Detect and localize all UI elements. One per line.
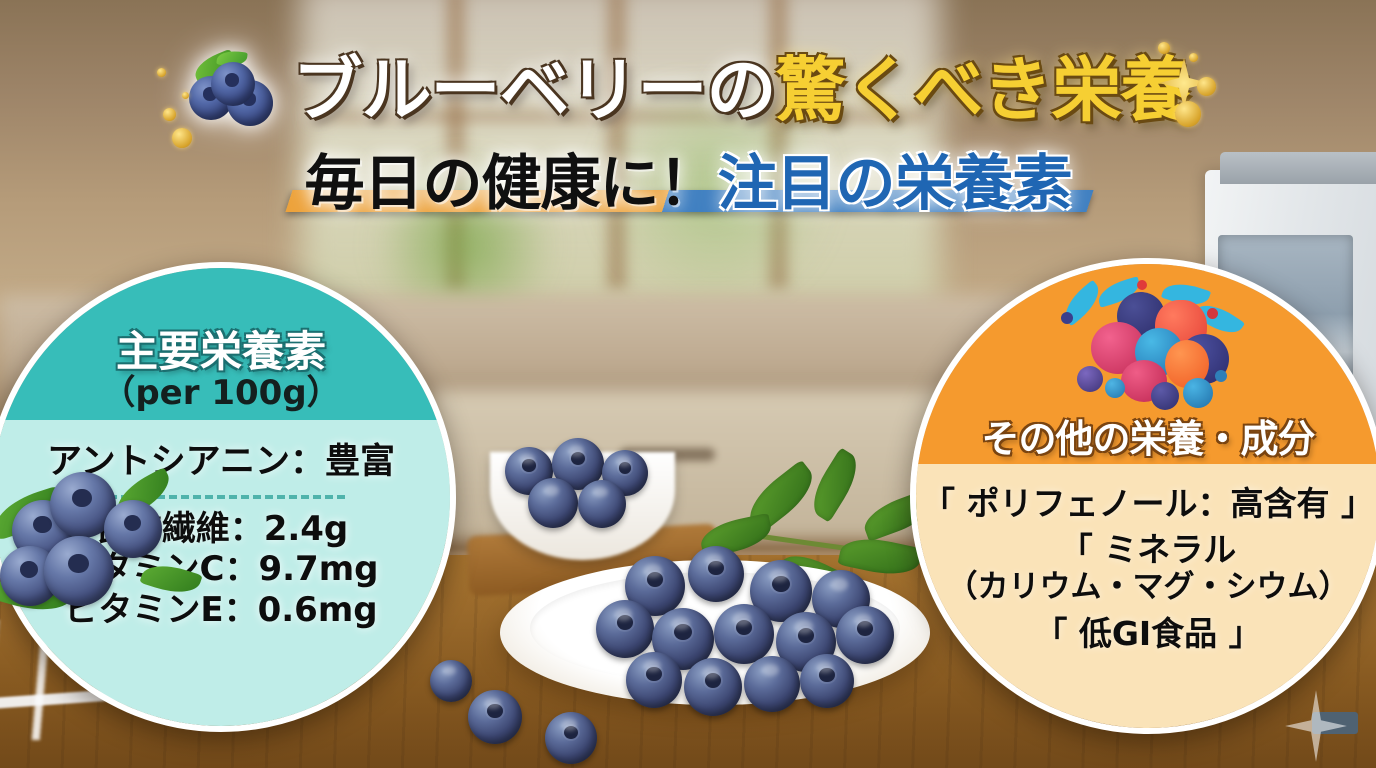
small-berry — [1183, 378, 1213, 408]
subtitle-part-black: 毎日の健康に！ — [305, 149, 718, 219]
sparkle-dot-icon — [1189, 53, 1198, 62]
small-berry — [1151, 382, 1179, 410]
plate-berry — [596, 600, 654, 658]
sparkle-dot-icon — [163, 108, 176, 121]
page-title: ブルーベリーの驚くべき栄養 — [293, 55, 1190, 125]
subtitle-part-blue: 注目の栄養素 — [718, 149, 1072, 219]
left-card-header: 主要栄養素 （per 100g） — [0, 268, 450, 420]
title-part-gold: 驚くべき栄養 — [776, 49, 1190, 131]
dot-berry — [1137, 280, 1147, 290]
bowl-berry — [578, 480, 626, 528]
sparkle-dot-icon — [157, 68, 166, 77]
sparkle-dot-icon — [182, 92, 189, 99]
right-card-body: 「 ポリフェノール：高含有 」 「 ミネラル （カリウム・マグ・シウム） 「 低… — [916, 464, 1376, 728]
blueberry-cluster-icon — [187, 50, 279, 130]
subtitle-row: 毎日の健康に！注目の栄養素 — [0, 138, 1376, 230]
dot-berry — [1215, 370, 1227, 382]
right-card-item: （カリウム・マグ・シウム） — [947, 569, 1350, 606]
infographic-canvas: ブルーベリーの驚くべき栄養 毎日の健康に！注目の栄養素 主要栄養素 （per 1… — [0, 0, 1376, 768]
plate-berry — [800, 654, 854, 708]
right-card-item: 「 低GI食品 」 — [1034, 614, 1261, 654]
plate-berry — [688, 546, 744, 602]
bowl-berry — [528, 478, 578, 528]
page-subtitle: 毎日の健康に！注目の栄養素 — [305, 154, 1072, 214]
decor-berry-icon — [44, 536, 114, 606]
title-row: ブルーベリーの驚くべき栄養 — [0, 44, 1376, 136]
right-nutrition-card: その他の栄養・成分 「 ポリフェノール：高含有 」 「 ミネラル （カリウム・マ… — [910, 258, 1376, 734]
sparkle-dot-icon — [1197, 77, 1216, 96]
sparkle-dot-icon — [1175, 101, 1201, 127]
plate-berry — [744, 656, 800, 712]
plate-berry — [714, 604, 774, 664]
plate-berry — [626, 652, 682, 708]
small-berry — [1077, 366, 1103, 392]
right-card-item: 「 ミネラル — [1060, 530, 1237, 570]
left-card-item: ビタミンE：0.6mg — [64, 590, 377, 630]
title-part-white: ブルーベリーの — [293, 49, 776, 131]
small-berry — [1105, 378, 1125, 398]
plate-berry — [684, 658, 742, 716]
right-card-header: その他の栄養・成分 — [916, 264, 1376, 464]
decor-berry-icon — [104, 500, 162, 558]
mixed-berries-icon — [1039, 278, 1257, 418]
berry-shape — [211, 62, 255, 106]
right-card-heading: その他の栄養・成分 — [981, 420, 1314, 460]
sparkle-dot-icon — [1158, 42, 1170, 54]
plate-berry — [836, 606, 894, 664]
table-berry — [468, 690, 522, 744]
left-card-heading: 主要栄養素 — [116, 330, 326, 374]
table-berry — [545, 712, 597, 764]
dot-berry — [1061, 312, 1073, 324]
left-card-subheading: （per 100g） — [101, 376, 340, 412]
right-card-item: 「 ポリフェノール：高含有 」 — [922, 484, 1374, 524]
